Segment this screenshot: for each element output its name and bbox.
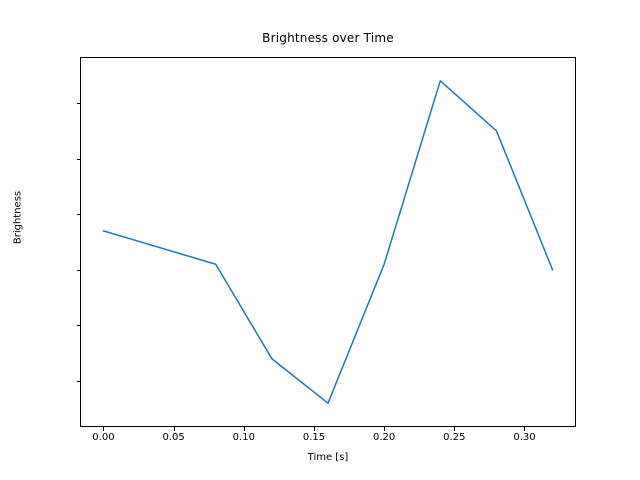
- x-tick-label: 0.05: [162, 432, 184, 443]
- x-tick-label: 0.15: [303, 432, 325, 443]
- x-tick-label: 0.10: [233, 432, 255, 443]
- x-axis-ticks: 0.000.050.100.150.200.250.30: [0, 0, 640, 480]
- x-tick-mark: [244, 427, 245, 431]
- x-tick-mark: [314, 427, 315, 431]
- x-tick-mark: [454, 427, 455, 431]
- x-tick-label: 0.20: [373, 432, 395, 443]
- x-tick-mark: [174, 427, 175, 431]
- y-axis-label: Brightness: [13, 168, 24, 268]
- figure-canvas: Brightness over Time 708090100110120 0.0…: [0, 0, 640, 480]
- x-tick-mark: [103, 427, 104, 431]
- x-tick-mark: [384, 427, 385, 431]
- x-tick-label: 0.00: [92, 432, 114, 443]
- x-tick-mark: [524, 427, 525, 431]
- x-tick-label: 0.30: [513, 432, 535, 443]
- x-axis-label: Time [s]: [80, 452, 576, 463]
- x-tick-label: 0.25: [443, 432, 465, 443]
